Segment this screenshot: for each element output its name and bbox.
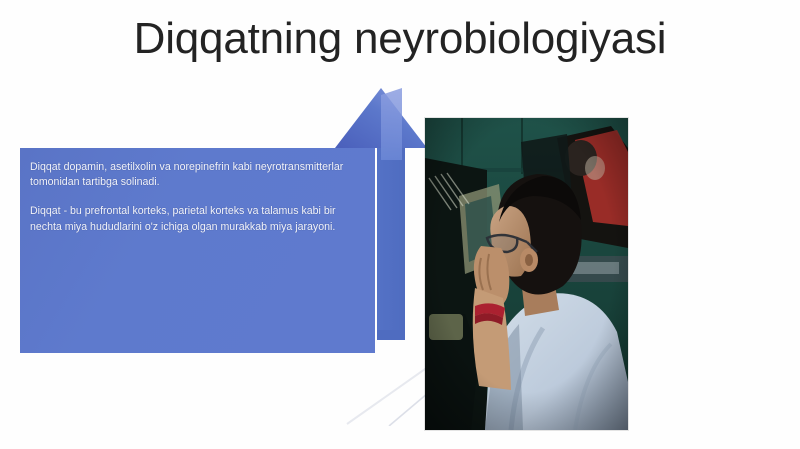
callout-paragraph-2: Diqqat - bu prefrontal korteks, parietal… [30,204,350,234]
page-title: Diqqatning neyrobiologiyasi [0,14,800,65]
classroom-student-photo [425,118,628,430]
callout-body-text: Diqqat dopamin, asetilxolin va norepinef… [30,160,350,235]
presentation-slide: Diqqatning neyrobiologiyasi [0,0,800,449]
callout-paragraph-1: Diqqat dopamin, asetilxolin va norepinef… [30,160,350,190]
callout-text-panel: Diqqat dopamin, asetilxolin va norepinef… [20,148,375,353]
